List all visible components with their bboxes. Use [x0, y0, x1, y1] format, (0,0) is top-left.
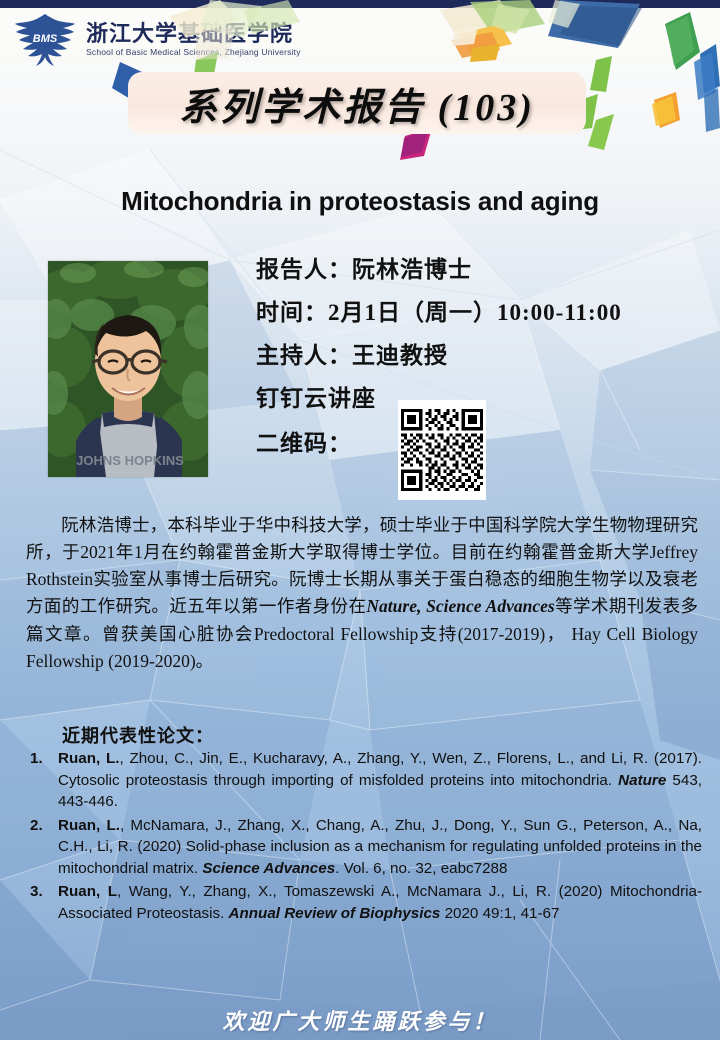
- school-name-cn: 浙江大学基础医学院: [86, 23, 301, 45]
- publication-lead-author: Ruan, L: [58, 883, 117, 900]
- publication-body: Ruan, L., McNamara, J., Zhang, X., Chang…: [58, 815, 702, 880]
- bio-journals: Nature, Science Advances: [366, 596, 554, 616]
- publication-citation: 2020 49:1, 41-67: [440, 905, 559, 922]
- publications-list: 1. Ruan, L., Zhou, C., Jin, E., Kucharav…: [30, 748, 702, 927]
- logo-wrap: BMS 浙江大学基础医学院 School of Basic Medical Sc…: [14, 12, 301, 68]
- publication-lead-author: Ruan, L.: [58, 750, 119, 767]
- publication-authors: , Zhou, C., Jin, E., Kucharavy, A., Zhan…: [58, 750, 702, 789]
- series-title: 系列学术报告 (103): [128, 72, 586, 134]
- welcome-footer: 欢迎广大师生踊跃参与！: [0, 1004, 720, 1036]
- publication-journal: Science Advances: [202, 860, 335, 877]
- publication-number: 1.: [30, 748, 58, 770]
- publication-citation: . Vol. 6, no. 32, eabc7288: [335, 860, 507, 877]
- publication-lead-author: Ruan, L.: [58, 817, 120, 834]
- publications-heading: 近期代表性论文：: [62, 722, 214, 748]
- talk-title: Mitochondria in proteostasis and aging: [0, 186, 720, 217]
- info-speaker: 报告人：阮林浩博士: [256, 258, 706, 281]
- info-host: 主持人：王迪教授: [256, 344, 706, 367]
- qr-code-icon[interactable]: [398, 400, 486, 500]
- school-header: BMS 浙江大学基础医学院 School of Basic Medical Sc…: [0, 0, 720, 62]
- publication-item: 3. Ruan, L, Wang, Y., Zhang, X., Tomasze…: [30, 881, 702, 924]
- info-time: 时间：2月1日（周一）10:00-11:00: [256, 301, 706, 324]
- publication-body: Ruan, L, Wang, Y., Zhang, X., Tomaszewsk…: [58, 881, 702, 924]
- speaker-bio: 阮林浩博士，本科毕业于华中科技大学，硕士毕业于中国科学院大学生物物理研究所，于2…: [26, 512, 698, 675]
- svg-text:JOHNS HOPKINS: JOHNS HOPKINS: [76, 453, 184, 468]
- bms-eagle-emblem-icon: BMS: [14, 12, 76, 68]
- publication-item: 1. Ruan, L., Zhou, C., Jin, E., Kucharav…: [30, 748, 702, 813]
- publication-number: 3.: [30, 881, 58, 903]
- school-name-en: School of Basic Medical Sciences, Zhejia…: [86, 48, 301, 57]
- publication-journal: Nature: [618, 772, 666, 789]
- publication-body: Ruan, L., Zhou, C., Jin, E., Kucharavy, …: [58, 748, 702, 813]
- brand-text: 浙江大学基础医学院 School of Basic Medical Scienc…: [86, 23, 301, 57]
- seminar-poster: BMS 浙江大学基础医学院 School of Basic Medical Sc…: [0, 0, 720, 1040]
- speaker-photo: JOHNS HOPKINS: [48, 261, 208, 477]
- publication-item: 2. Ruan, L., McNamara, J., Zhang, X., Ch…: [30, 815, 702, 880]
- publication-journal: Annual Review of Biophysics: [229, 905, 441, 922]
- svg-text:BMS: BMS: [33, 33, 58, 45]
- publication-number: 2.: [30, 815, 58, 837]
